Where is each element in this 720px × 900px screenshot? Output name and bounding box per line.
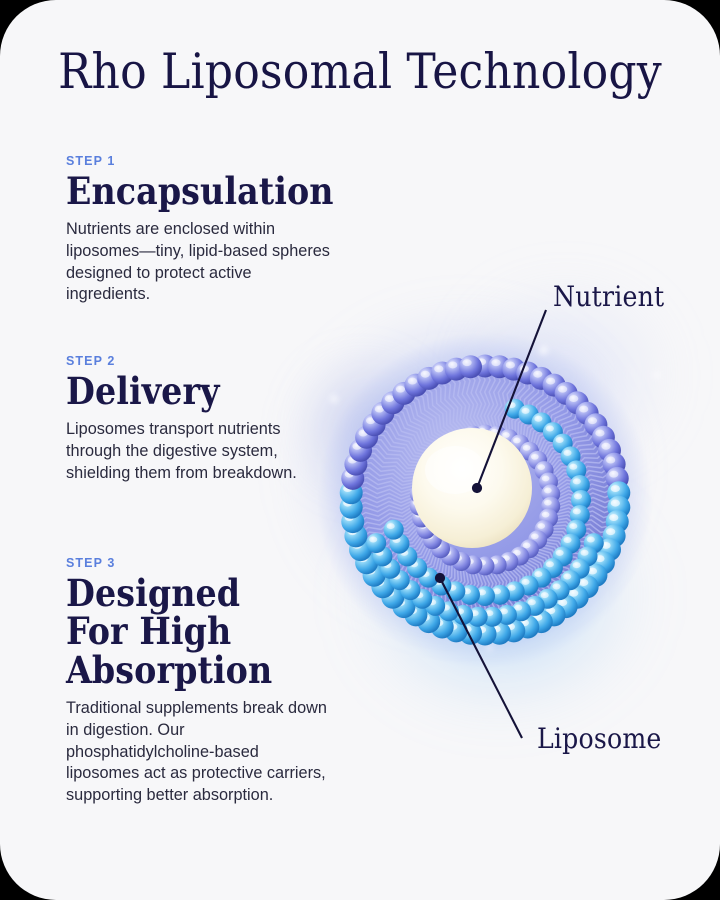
bead-highlight [606,528,615,535]
liposome-illustration [0,0,720,900]
liposome-anchor-dot [435,573,444,582]
bead-highlight [448,362,457,369]
bead-highlight [522,579,530,585]
bead-highlight [531,454,539,460]
bead-highlight [537,464,545,470]
bead-highlight [546,561,554,567]
bead-highlight [569,523,577,529]
bead-highlight [531,534,539,540]
bead-highlight [588,417,597,424]
bead-highlight [385,395,394,402]
bead-highlight [522,408,530,414]
bead-highlight [491,359,500,366]
bead-highlight [434,365,443,372]
bead-highlight [609,514,618,521]
nutrient-anchor-dot [472,483,481,492]
bead-highlight [387,523,395,529]
bead-highlight [609,471,618,478]
bead-highlight [606,457,615,464]
bead-highlight [573,478,581,484]
bead-highlight [574,493,582,499]
bead-highlight [542,476,550,482]
bead-highlight [569,464,577,470]
lipid-head-bead [459,355,482,378]
bead-highlight [544,500,552,506]
bead-highlight [506,362,515,369]
bead-highlight [579,406,588,413]
bead-highlight [564,450,572,456]
bead-highlight [542,512,550,518]
callout-label-nutrient: Nutrient [553,280,664,313]
bead-highlight [569,395,578,402]
bead-highlight [408,378,417,385]
bead-highlight [462,359,471,366]
bead-highlight [369,536,377,542]
bead-highlight [611,485,620,492]
bead-highlight [534,571,542,577]
bead-highlight [523,543,531,549]
bead-highlight [537,523,545,529]
bead-highlight [421,371,430,378]
callout-label-liposome: Liposome [537,722,662,755]
bead-highlight [573,562,581,568]
infographic-card: Rho Liposomal Technology STEP 1 Encapsul… [0,0,720,900]
bead-highlight [563,573,571,579]
bead-highlight [556,437,564,443]
bead-highlight [564,537,572,543]
lipid-head-bead [366,533,386,553]
bead-highlight [569,590,578,597]
bead-highlight [573,508,581,514]
bead-highlight [396,386,405,393]
bead-highlight [528,599,536,605]
bead-highlight [546,378,555,385]
bead-highlight [611,500,620,507]
bead-highlight [513,438,521,444]
bead-highlight [579,579,588,586]
bead-highlight [533,371,542,378]
bead-highlight [581,550,589,556]
bead-highlight [553,584,561,590]
bead-highlight [508,585,516,591]
bead-highlight [546,426,554,432]
bead-highlight [558,386,567,393]
bead-highlight [534,416,542,422]
bead-highlight [541,592,549,598]
bead-highlight [595,430,604,437]
bead-highlight [601,443,610,450]
bead-highlight [556,550,564,556]
bead-highlight [523,445,531,451]
lipid-head-bead [384,520,404,540]
bead-highlight [587,536,595,542]
bead-highlight [544,488,552,494]
